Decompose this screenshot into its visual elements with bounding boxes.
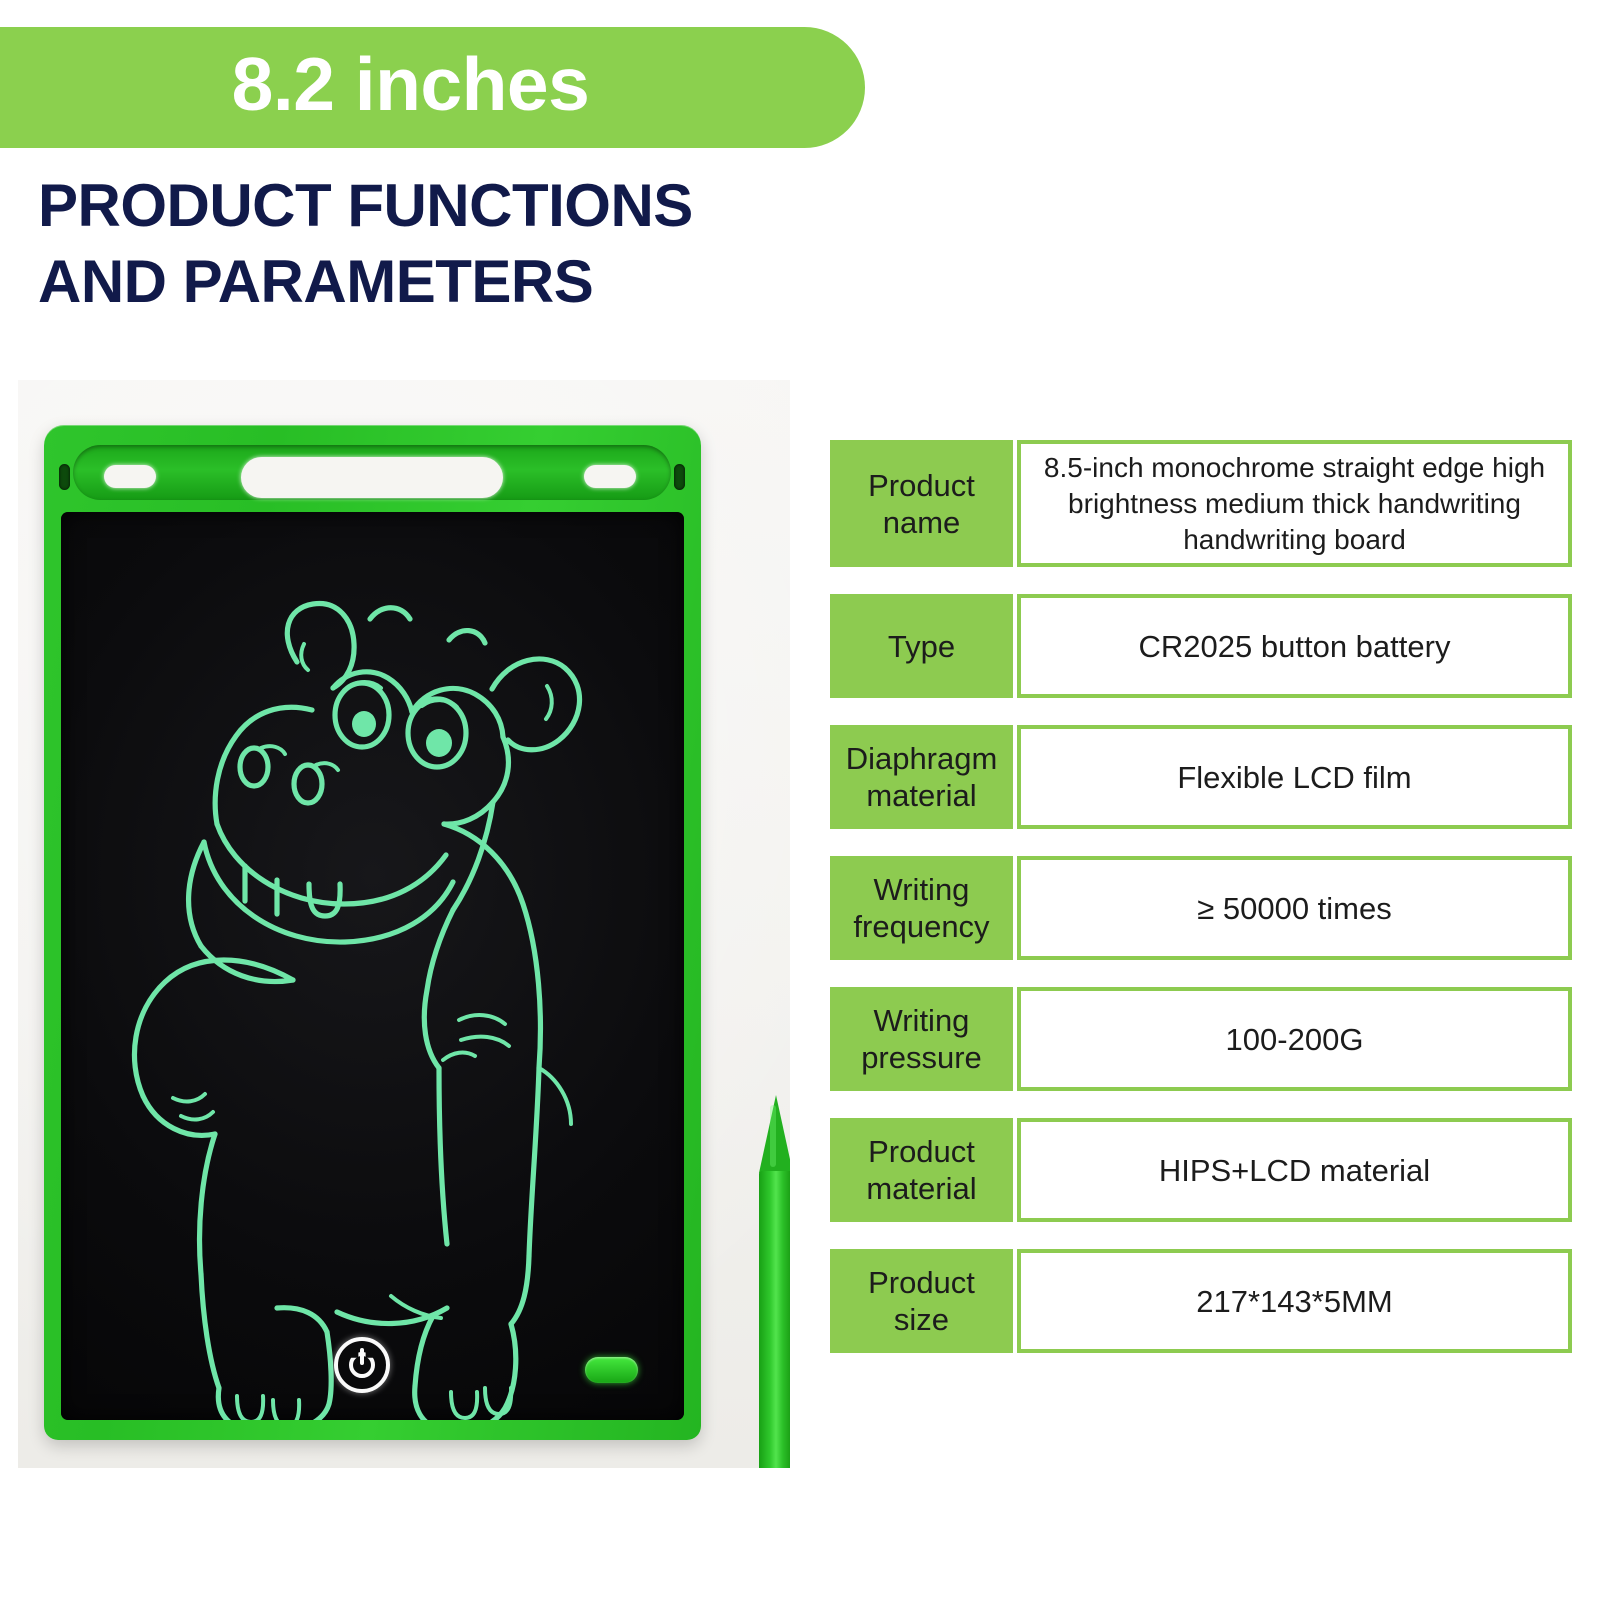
spec-value-type: CR2025 button battery <box>1017 594 1572 698</box>
page-title-line-1: PRODUCT FUNCTIONS <box>38 168 838 244</box>
size-badge: 8.2 inches <box>0 27 865 148</box>
spec-label-product-material: Productmaterial <box>830 1118 1013 1222</box>
table-row: Writingpressure 100-200G <box>830 987 1572 1091</box>
page-title: PRODUCT FUNCTIONS AND PARAMETERS <box>38 168 838 320</box>
screw-hole-left-icon <box>59 464 70 490</box>
spec-label-line-2: material <box>866 1171 976 1206</box>
hanger-slot-center-icon <box>241 457 503 498</box>
spec-label-line-2: pressure <box>861 1040 982 1075</box>
spec-label-line-2: frequency <box>853 909 989 944</box>
spec-label-writing-pressure: Writingpressure <box>830 987 1013 1091</box>
table-row: Productname 8.5-inch monochrome straight… <box>830 440 1572 567</box>
hanger-slot-left-icon <box>104 465 156 488</box>
spec-value-product-size: 217*143*5MM <box>1017 1249 1572 1353</box>
spec-label-line-1: Product <box>868 468 975 503</box>
spec-label-line-2: name <box>883 505 961 540</box>
spec-label-product-size: Productsize <box>830 1249 1013 1353</box>
table-row: Type CR2025 button battery <box>830 594 1572 698</box>
spec-label-diaphragm-material: Diaphragmmaterial <box>830 725 1013 829</box>
spec-label-writing-frequency: Writingfrequency <box>830 856 1013 960</box>
page-title-line-2: AND PARAMETERS <box>38 244 838 320</box>
stylus-pen <box>753 1095 790 1468</box>
lcd-writing-tablet <box>44 425 701 1440</box>
stylus-tip-highlight <box>770 1105 776 1167</box>
spec-label-line-1: Writing <box>874 1003 970 1038</box>
stylus-barrel <box>759 1171 790 1468</box>
table-row: Diaphragmmaterial Flexible LCD film <box>830 725 1572 829</box>
hanger-slot-right-icon <box>584 465 636 488</box>
spec-value-diaphragm-material: Flexible LCD film <box>1017 725 1572 829</box>
spec-label-line-1: Product <box>868 1134 975 1169</box>
spec-label-product-name: Productname <box>830 440 1013 567</box>
size-badge-label: 8.2 inches <box>232 47 590 122</box>
spec-value-product-name: 8.5-inch monochrome straight edge high b… <box>1017 440 1572 567</box>
spec-label-line-1: Writing <box>874 872 970 907</box>
table-row: Writingfrequency ≥ 50000 times <box>830 856 1572 960</box>
spec-value-writing-pressure: 100-200G <box>1017 987 1572 1091</box>
table-row: Productmaterial HIPS+LCD material <box>830 1118 1572 1222</box>
spec-label-line-2: size <box>894 1302 949 1337</box>
power-symbol-stem <box>360 1348 364 1365</box>
erase-button-icon[interactable] <box>585 1357 638 1383</box>
hippo-drawing <box>61 512 684 1420</box>
spec-value-product-material: HIPS+LCD material <box>1017 1118 1572 1222</box>
product-photo <box>18 380 790 1468</box>
spec-label-type: Type <box>830 594 1013 698</box>
spec-label-line-2: material <box>866 778 976 813</box>
spec-table: Productname 8.5-inch monochrome straight… <box>830 440 1572 1380</box>
power-button-icon[interactable] <box>334 1337 390 1393</box>
spec-value-writing-frequency: ≥ 50000 times <box>1017 856 1572 960</box>
spec-label-line-1: Product <box>868 1265 975 1300</box>
table-row: Productsize 217*143*5MM <box>830 1249 1572 1353</box>
spec-label-line-1: Type <box>888 628 955 665</box>
screw-hole-right-icon <box>674 464 685 490</box>
spec-label-line-1: Diaphragm <box>846 741 998 776</box>
lcd-screen <box>61 512 684 1420</box>
